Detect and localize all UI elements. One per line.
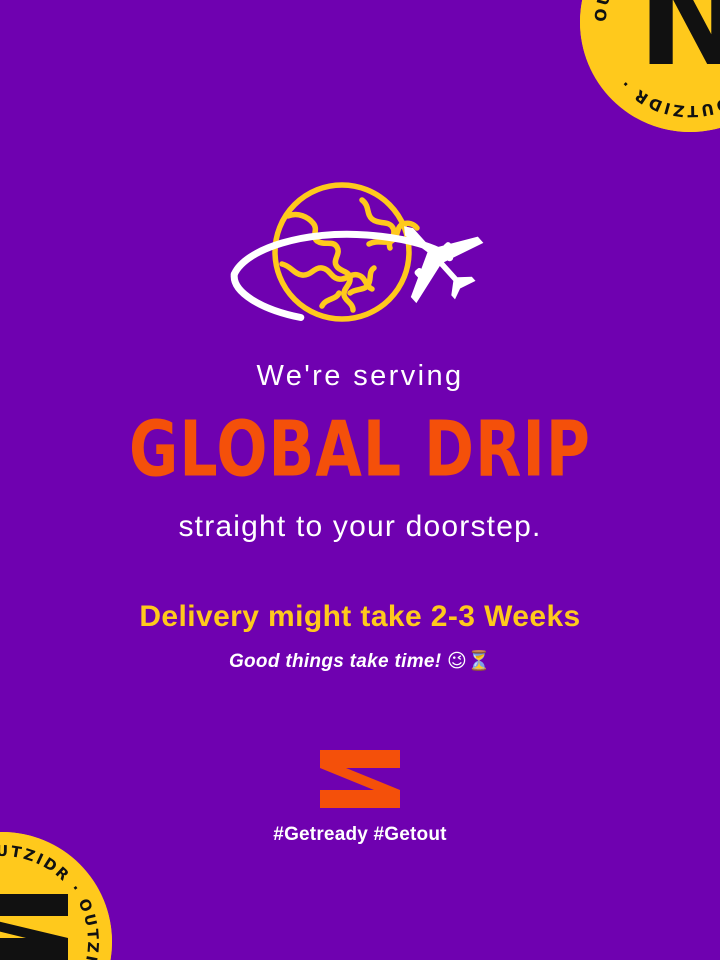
copy-block: We're serving GLOBAL DRIP straight to yo…	[0, 362, 720, 671]
eyebrow-text: We're serving	[0, 362, 720, 391]
poster-canvas: OUTZIDR · OUTZIDR · OUTZIDR · OUTZIDR · …	[0, 0, 720, 960]
hashtags: #Getready #Getout	[0, 824, 720, 846]
hero-illustration	[230, 168, 490, 348]
page-title: GLOBAL DRIP	[0, 411, 720, 488]
orbit-swoosh-icon	[228, 202, 451, 324]
footer-block: #Getready #Getout	[0, 748, 720, 846]
tagline: Good things take time! 😉⏳	[0, 652, 720, 671]
subline-text: straight to your doorstep.	[0, 512, 720, 542]
z-logo-icon	[318, 748, 402, 810]
badge-bottom-left: OUTZIDR · OUTZIDR · OUTZIDR · OUTZIDR · …	[0, 832, 112, 960]
delivery-notice: Delivery might take 2-3 Weeks	[0, 602, 720, 632]
badge-top-right: OUTZIDR · OUTZIDR · OUTZIDR · OUTZIDR · …	[580, 0, 720, 132]
airplane-icon	[373, 194, 499, 320]
tagline-emoji-icon: 😉⏳	[447, 650, 491, 672]
globe-icon	[275, 185, 417, 319]
badge-letter-n: N	[638, 0, 720, 95]
tagline-text: Good things take time!	[229, 651, 441, 672]
